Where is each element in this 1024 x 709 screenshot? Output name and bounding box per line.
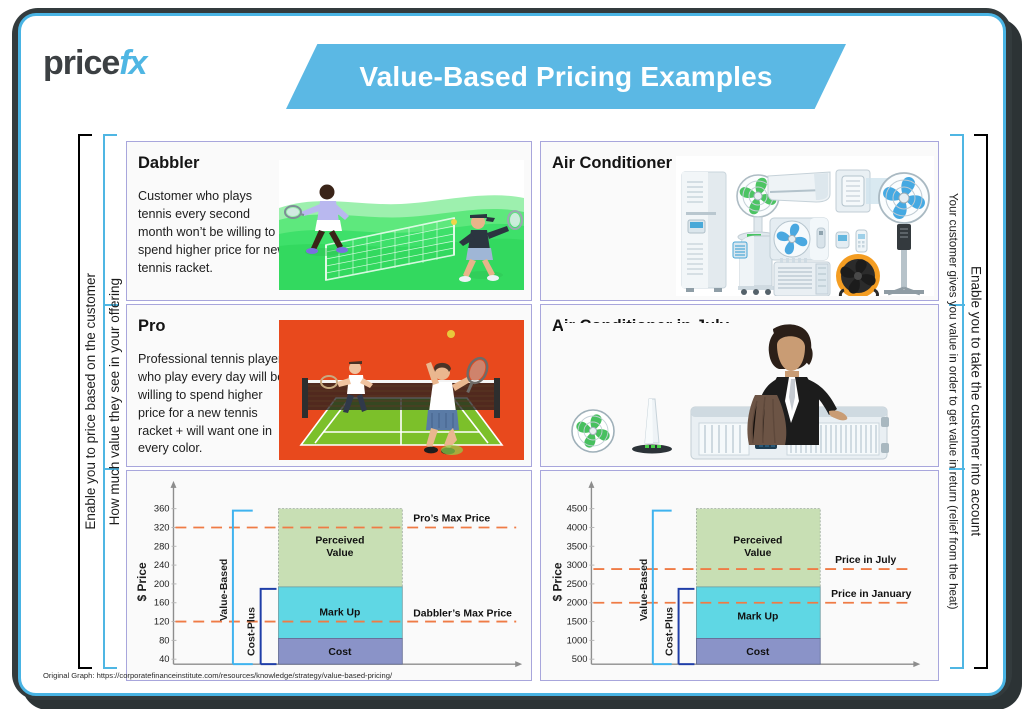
left-inner-annotation-label: How much value they see in your offering: [107, 278, 122, 525]
svg-text:4000: 4000: [567, 521, 588, 532]
svg-text:120: 120: [154, 616, 170, 627]
logo-text-main: price: [43, 44, 119, 82]
svg-text:500: 500: [572, 653, 588, 664]
svg-text:Cost-Plus: Cost-Plus: [665, 607, 676, 656]
page-title: Value-Based Pricing Examples: [359, 61, 772, 93]
svg-text:360: 360: [154, 503, 170, 514]
left-inner-annotation: How much value they see in your offering: [103, 134, 125, 669]
svg-text:Dabbler’s Max Price: Dabbler’s Max Price: [413, 609, 512, 620]
title-banner: Value-Based Pricing Examples: [286, 44, 846, 109]
cell-ac-chart: $ Price 4500 4000 3500 3000 2500 2000 15…: [540, 470, 939, 681]
cell-pro: Pro Professional tennis player who play …: [126, 304, 532, 467]
right-inner-annotation: Your customer gives you value in order t…: [942, 134, 964, 669]
svg-text:320: 320: [154, 521, 170, 532]
air-conditioner-group-illustration: [676, 156, 934, 296]
cell-dabbler-title: Dabbler: [138, 154, 199, 173]
right-outer-annotation-label: Enable you to take the customer into acc…: [969, 266, 984, 536]
slide-canvas: pricefx Value-Based Pricing Examples Ena…: [18, 13, 1006, 696]
right-outer-annotation: Enable you to take the customer into acc…: [965, 134, 987, 669]
svg-text:$ Price: $ Price: [551, 562, 565, 601]
logo-text-accent: fx: [119, 44, 145, 82]
svg-text:80: 80: [159, 634, 169, 645]
svg-text:Perceived: Perceived: [733, 535, 782, 546]
svg-text:240: 240: [154, 559, 170, 570]
svg-text:Cost: Cost: [328, 647, 352, 658]
svg-text:Mark Up: Mark Up: [319, 608, 360, 619]
svg-text:1500: 1500: [567, 616, 588, 627]
tennis-casual-illustration: [279, 160, 524, 290]
svg-text:Value-Based: Value-Based: [639, 559, 650, 621]
svg-text:4500: 4500: [567, 503, 588, 514]
svg-text:3000: 3000: [567, 559, 588, 570]
cell-ac-july: Air Conditioner in July: [540, 304, 939, 467]
hot-man-with-air-conditioner-illustration: [563, 323, 923, 463]
svg-text:2000: 2000: [567, 597, 588, 608]
svg-text:1000: 1000: [567, 634, 588, 645]
cell-pro-body: Professional tennis player who play ever…: [138, 351, 288, 458]
cell-dabbler: Dabbler Customer who plays tennis every …: [126, 141, 532, 301]
svg-text:2500: 2500: [567, 578, 588, 589]
svg-text:Cost: Cost: [746, 647, 770, 658]
svg-text:160: 160: [154, 597, 170, 608]
svg-text:3500: 3500: [567, 540, 588, 551]
left-outer-annotation-label: Enable you to price based on the custome…: [83, 273, 98, 530]
svg-text:Cost-Plus: Cost-Plus: [247, 607, 258, 656]
svg-text:Value-Based: Value-Based: [219, 559, 230, 621]
svg-text:280: 280: [154, 540, 170, 551]
svg-text:Mark Up: Mark Up: [737, 612, 778, 623]
slide-root: pricefx Value-Based Pricing Examples Ena…: [0, 0, 1024, 709]
source-footnote: Original Graph: https://corporatefinance…: [43, 671, 392, 680]
left-outer-annotation: Enable you to price based on the custome…: [79, 134, 101, 669]
tennis-professional-illustration: [279, 320, 524, 460]
pricefx-logo: pricefx: [43, 44, 146, 83]
svg-text:Pro’s Max Price: Pro’s Max Price: [413, 514, 490, 525]
svg-text:Value: Value: [326, 548, 353, 559]
svg-text:Price in January: Price in January: [831, 589, 912, 600]
svg-text:Price in July: Price in July: [835, 555, 896, 566]
cell-ac-january: Air Conditioner in January: [540, 141, 939, 301]
cell-dabbler-body: Customer who plays tennis every second m…: [138, 188, 288, 277]
svg-text:$ Price: $ Price: [135, 562, 149, 601]
svg-text:Value: Value: [744, 548, 771, 559]
air-conditioner-price-chart: $ Price 4500 4000 3500 3000 2500 2000 15…: [541, 471, 938, 680]
svg-text:Perceived: Perceived: [315, 535, 364, 546]
svg-text:200: 200: [154, 578, 170, 589]
cell-pro-title: Pro: [138, 317, 166, 336]
right-inner-annotation-label: Your customer gives you value in order t…: [947, 193, 960, 610]
cell-tennis-chart: $ Price 360 320 280 240 200 160 120 80 4…: [126, 470, 532, 681]
examples-matrix: Dabbler Customer who plays tennis every …: [126, 141, 939, 689]
tennis-racket-price-chart: $ Price 360 320 280 240 200 160 120 80 4…: [127, 471, 531, 680]
svg-text:40: 40: [159, 653, 169, 664]
